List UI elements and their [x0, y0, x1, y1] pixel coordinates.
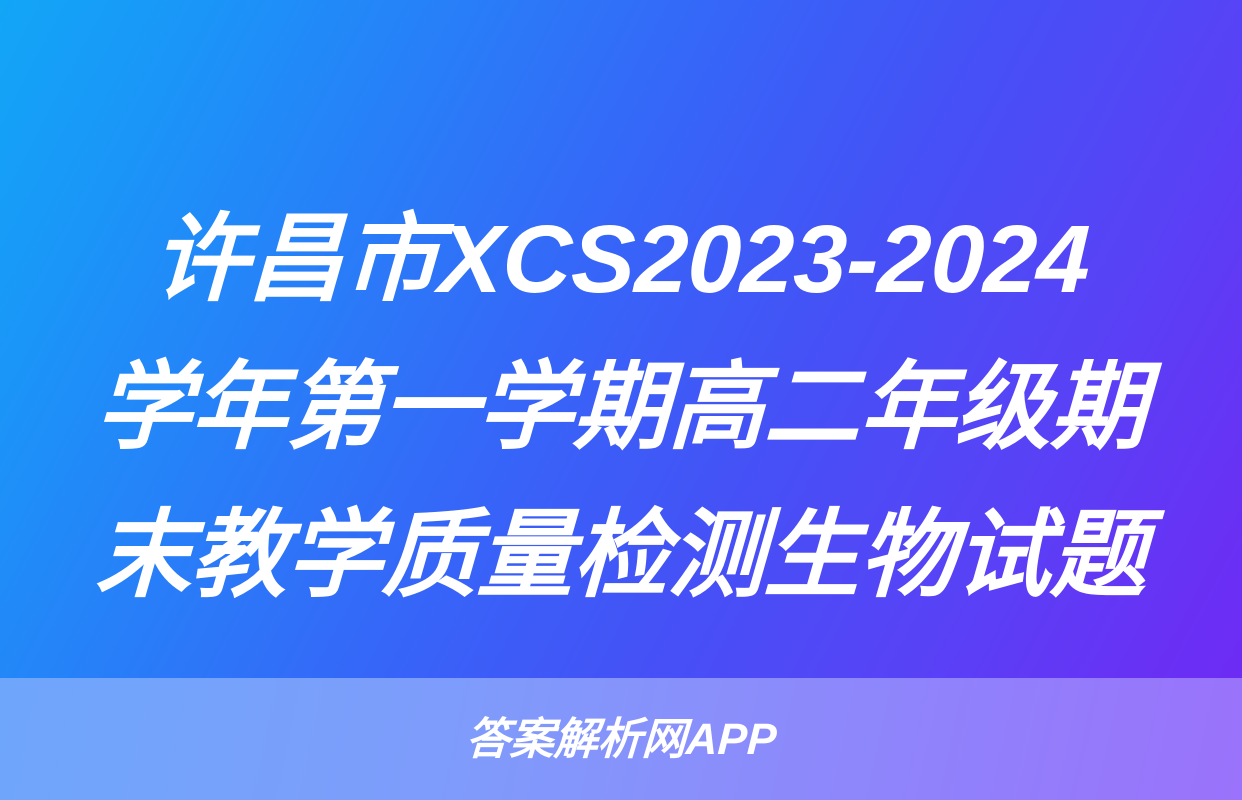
- headline-line-3: 末教学质量检测生物试题: [0, 482, 1242, 630]
- app-watermark-label: 答案解析网APP: [465, 718, 778, 762]
- footer-band: 答案解析网APP: [0, 678, 1242, 800]
- title-card: 许昌市XCS2023-2024 学年第一学期高二年级期 末教学质量检测生物试题 …: [0, 0, 1242, 800]
- headline-block: 许昌市XCS2023-2024 学年第一学期高二年级期 末教学质量检测生物试题: [0, 186, 1242, 626]
- headline-line-2: 学年第一学期高二年级期: [0, 334, 1242, 482]
- headline-line-1: 许昌市XCS2023-2024: [0, 186, 1242, 334]
- footer-band-inner: 答案解析网APP: [0, 678, 1242, 800]
